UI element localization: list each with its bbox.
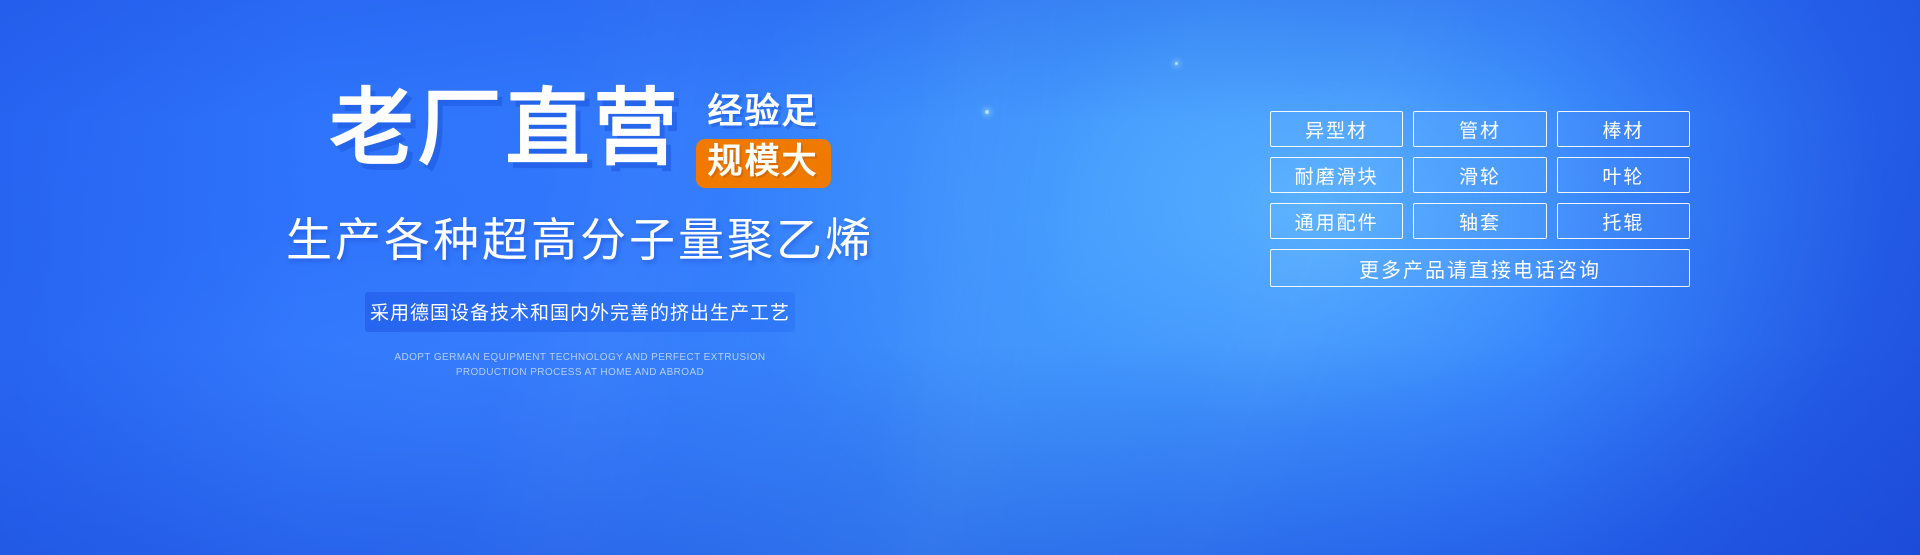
hero-banner: 老厂直营 经验足 规模大 生产各种超高分子量聚乙烯 采用德国设备技术和国内外完善… — [0, 0, 1920, 555]
product-chip-guancai[interactable]: 管材 — [1413, 111, 1546, 147]
product-chip-tongyongpeijian[interactable]: 通用配件 — [1270, 203, 1403, 239]
product-chip-yelun[interactable]: 叶轮 — [1557, 157, 1690, 193]
headline-row: 老厂直营 经验足 规模大 — [230, 86, 930, 188]
banner-content: 老厂直营 经验足 规模大 生产各种超高分子量聚乙烯 采用德国设备技术和国内外完善… — [0, 0, 1920, 555]
product-category-grid: 异型材 管材 棒材 耐磨滑块 滑轮 叶轮 通用配件 轴套 托辊 更多产品请直接电… — [1270, 111, 1690, 287]
badge-experience: 经验足 — [696, 92, 831, 132]
product-chip-zhoutao[interactable]: 轴套 — [1413, 203, 1546, 239]
product-chip-yixingcai[interactable]: 异型材 — [1270, 111, 1403, 147]
more-products-cta[interactable]: 更多产品请直接电话咨询 — [1270, 249, 1690, 287]
headline-block: 老厂直营 经验足 规模大 生产各种超高分子量聚乙烯 采用德国设备技术和国内外完善… — [230, 86, 930, 380]
badge-scale: 规模大 — [696, 139, 831, 187]
english-tagline-line1: ADOPT GERMAN EQUIPMENT TECHNOLOGY AND PE… — [230, 350, 930, 365]
subtitle: 生产各种超高分子量聚乙烯 — [230, 204, 930, 270]
headline-badges: 经验足 规模大 — [696, 86, 831, 188]
strapline-bar: 采用德国设备技术和国内外完善的挤出生产工艺 — [365, 292, 795, 332]
product-chip-hualun[interactable]: 滑轮 — [1413, 157, 1546, 193]
product-chip-tuogun[interactable]: 托辊 — [1557, 203, 1690, 239]
page-title: 老厂直营 — [329, 86, 681, 170]
english-tagline-line2: PRODUCTION PROCESS AT HOME AND ABROAD — [230, 365, 930, 380]
english-tagline: ADOPT GERMAN EQUIPMENT TECHNOLOGY AND PE… — [230, 350, 930, 380]
product-chip-naimohuakuai[interactable]: 耐磨滑块 — [1270, 157, 1403, 193]
product-chip-bangcai[interactable]: 棒材 — [1557, 111, 1690, 147]
product-category-panel: 异型材 管材 棒材 耐磨滑块 滑轮 叶轮 通用配件 轴套 托辊 更多产品请直接电… — [1270, 111, 1690, 287]
